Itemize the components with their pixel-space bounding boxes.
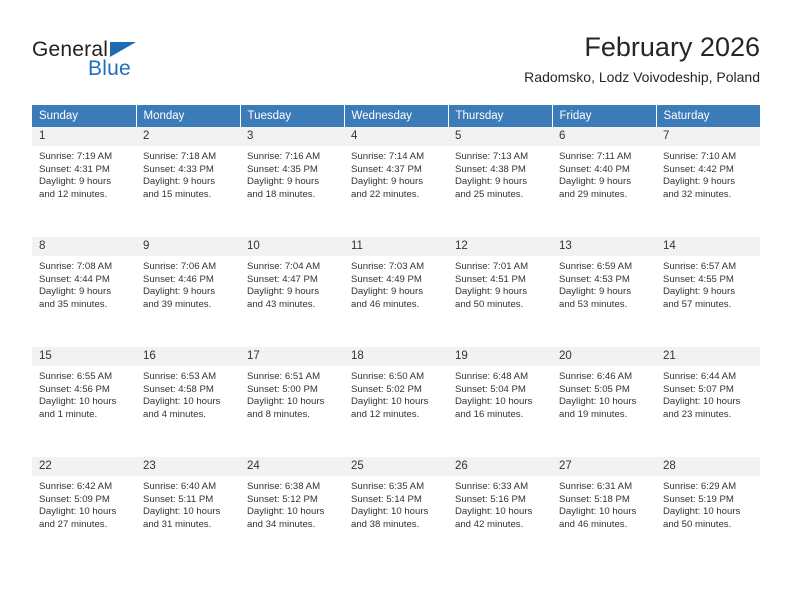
daylight-text-line1: Daylight: 9 hours — [143, 176, 234, 189]
day-details: Sunrise: 6:50 AMSunset: 5:02 PMDaylight:… — [344, 367, 448, 421]
daylight-text-line1: Daylight: 10 hours — [455, 396, 546, 409]
day-cell-inner: 20Sunrise: 6:46 AMSunset: 5:05 PMDayligh… — [552, 347, 656, 451]
daylight-text-line2: and 15 minutes. — [143, 189, 234, 202]
sunset-text: Sunset: 5:09 PM — [39, 494, 130, 507]
weekday-header-sunday: Sunday — [32, 105, 136, 127]
weekday-header-thursday: Thursday — [448, 105, 552, 127]
calendar-day-cell[interactable]: 1Sunrise: 7:19 AMSunset: 4:31 PMDaylight… — [32, 127, 136, 231]
calendar-day-cell[interactable]: 17Sunrise: 6:51 AMSunset: 5:00 PMDayligh… — [240, 347, 344, 451]
calendar-week-row: 8Sunrise: 7:08 AMSunset: 4:44 PMDaylight… — [32, 237, 760, 341]
calendar-page: General Blue February 2026 Radomsko, Lod… — [0, 0, 792, 612]
sunset-text: Sunset: 4:38 PM — [455, 164, 546, 177]
sunset-text: Sunset: 5:00 PM — [247, 384, 338, 397]
brand-name-blue: Blue — [88, 57, 131, 81]
day-number: 26 — [448, 457, 552, 477]
daylight-text-line1: Daylight: 9 hours — [559, 176, 650, 189]
day-number: 23 — [136, 457, 240, 477]
daylight-text-line1: Daylight: 10 hours — [663, 506, 754, 519]
day-cell-inner: 13Sunrise: 6:59 AMSunset: 4:53 PMDayligh… — [552, 237, 656, 341]
day-number: 27 — [552, 457, 656, 477]
daylight-text-line1: Daylight: 10 hours — [143, 396, 234, 409]
day-details: Sunrise: 6:48 AMSunset: 5:04 PMDaylight:… — [448, 367, 552, 421]
day-details: Sunrise: 6:51 AMSunset: 5:00 PMDaylight:… — [240, 367, 344, 421]
daylight-text-line1: Daylight: 10 hours — [455, 506, 546, 519]
daylight-text-line1: Daylight: 9 hours — [663, 286, 754, 299]
day-details: Sunrise: 6:42 AMSunset: 5:09 PMDaylight:… — [32, 477, 136, 531]
day-number: 13 — [552, 237, 656, 257]
sunset-text: Sunset: 4:33 PM — [143, 164, 234, 177]
daylight-text-line2: and 8 minutes. — [247, 409, 338, 422]
day-cell-inner: 8Sunrise: 7:08 AMSunset: 4:44 PMDaylight… — [32, 237, 136, 341]
sunrise-text: Sunrise: 6:46 AM — [559, 371, 650, 384]
calendar-day-cell[interactable]: 22Sunrise: 6:42 AMSunset: 5:09 PMDayligh… — [32, 457, 136, 561]
calendar-day-cell[interactable]: 18Sunrise: 6:50 AMSunset: 5:02 PMDayligh… — [344, 347, 448, 451]
day-number: 20 — [552, 347, 656, 367]
day-number: 14 — [656, 237, 760, 257]
sunset-text: Sunset: 4:42 PM — [663, 164, 754, 177]
day-cell-inner: 15Sunrise: 6:55 AMSunset: 4:56 PMDayligh… — [32, 347, 136, 451]
calendar-day-cell[interactable]: 28Sunrise: 6:29 AMSunset: 5:19 PMDayligh… — [656, 457, 760, 561]
daylight-text-line2: and 50 minutes. — [663, 519, 754, 532]
day-details: Sunrise: 7:01 AMSunset: 4:51 PMDaylight:… — [448, 257, 552, 311]
daylight-text-line1: Daylight: 9 hours — [247, 176, 338, 189]
day-cell-inner: 4Sunrise: 7:14 AMSunset: 4:37 PMDaylight… — [344, 127, 448, 231]
sunrise-text: Sunrise: 7:18 AM — [143, 151, 234, 164]
day-number: 3 — [240, 127, 344, 147]
day-details: Sunrise: 7:04 AMSunset: 4:47 PMDaylight:… — [240, 257, 344, 311]
calendar-day-cell[interactable]: 26Sunrise: 6:33 AMSunset: 5:16 PMDayligh… — [448, 457, 552, 561]
sunrise-text: Sunrise: 6:31 AM — [559, 481, 650, 494]
page-header: General Blue February 2026 Radomsko, Lod… — [32, 30, 760, 96]
sunrise-text: Sunrise: 7:03 AM — [351, 261, 442, 274]
day-details: Sunrise: 6:29 AMSunset: 5:19 PMDaylight:… — [656, 477, 760, 531]
daylight-text-line2: and 34 minutes. — [247, 519, 338, 532]
day-details: Sunrise: 6:53 AMSunset: 4:58 PMDaylight:… — [136, 367, 240, 421]
sunrise-text: Sunrise: 7:19 AM — [39, 151, 130, 164]
daylight-text-line1: Daylight: 9 hours — [351, 176, 442, 189]
day-number: 21 — [656, 347, 760, 367]
sunrise-text: Sunrise: 7:08 AM — [39, 261, 130, 274]
daylight-text-line1: Daylight: 9 hours — [39, 176, 130, 189]
day-cell-inner: 2Sunrise: 7:18 AMSunset: 4:33 PMDaylight… — [136, 127, 240, 231]
sunset-text: Sunset: 4:51 PM — [455, 274, 546, 287]
daylight-text-line2: and 25 minutes. — [455, 189, 546, 202]
calendar-day-cell[interactable]: 6Sunrise: 7:11 AMSunset: 4:40 PMDaylight… — [552, 127, 656, 231]
day-details: Sunrise: 6:57 AMSunset: 4:55 PMDaylight:… — [656, 257, 760, 311]
day-details: Sunrise: 7:16 AMSunset: 4:35 PMDaylight:… — [240, 147, 344, 201]
day-cell-inner: 11Sunrise: 7:03 AMSunset: 4:49 PMDayligh… — [344, 237, 448, 341]
day-cell-inner: 12Sunrise: 7:01 AMSunset: 4:51 PMDayligh… — [448, 237, 552, 341]
day-number: 12 — [448, 237, 552, 257]
day-number: 8 — [32, 237, 136, 257]
day-details: Sunrise: 7:19 AMSunset: 4:31 PMDaylight:… — [32, 147, 136, 201]
daylight-text-line2: and 31 minutes. — [143, 519, 234, 532]
day-cell-inner: 5Sunrise: 7:13 AMSunset: 4:38 PMDaylight… — [448, 127, 552, 231]
sunrise-text: Sunrise: 6:59 AM — [559, 261, 650, 274]
daylight-text-line2: and 50 minutes. — [455, 299, 546, 312]
sunrise-text: Sunrise: 6:48 AM — [455, 371, 546, 384]
sunset-text: Sunset: 5:12 PM — [247, 494, 338, 507]
sunset-text: Sunset: 5:18 PM — [559, 494, 650, 507]
weekday-header-saturday: Saturday — [656, 105, 760, 127]
sunrise-text: Sunrise: 6:42 AM — [39, 481, 130, 494]
day-cell-inner: 22Sunrise: 6:42 AMSunset: 5:09 PMDayligh… — [32, 457, 136, 561]
daylight-text-line2: and 16 minutes. — [455, 409, 546, 422]
daylight-text-line2: and 42 minutes. — [455, 519, 546, 532]
day-details: Sunrise: 7:11 AMSunset: 4:40 PMDaylight:… — [552, 147, 656, 201]
sunset-text: Sunset: 4:58 PM — [143, 384, 234, 397]
calendar-day-cell[interactable]: 15Sunrise: 6:55 AMSunset: 4:56 PMDayligh… — [32, 347, 136, 451]
day-number: 7 — [656, 127, 760, 147]
day-details: Sunrise: 7:03 AMSunset: 4:49 PMDaylight:… — [344, 257, 448, 311]
day-details: Sunrise: 6:40 AMSunset: 5:11 PMDaylight:… — [136, 477, 240, 531]
daylight-text-line2: and 46 minutes. — [559, 519, 650, 532]
calendar-day-cell[interactable]: 14Sunrise: 6:57 AMSunset: 4:55 PMDayligh… — [656, 237, 760, 341]
calendar-week-row: 22Sunrise: 6:42 AMSunset: 5:09 PMDayligh… — [32, 457, 760, 561]
calendar-day-cell[interactable]: 13Sunrise: 6:59 AMSunset: 4:53 PMDayligh… — [552, 237, 656, 341]
sunset-text: Sunset: 4:56 PM — [39, 384, 130, 397]
sunrise-text: Sunrise: 7:13 AM — [455, 151, 546, 164]
sunset-text: Sunset: 4:46 PM — [143, 274, 234, 287]
day-number: 22 — [32, 457, 136, 477]
daylight-text-line1: Daylight: 9 hours — [455, 176, 546, 189]
sunrise-text: Sunrise: 7:01 AM — [455, 261, 546, 274]
day-number: 15 — [32, 347, 136, 367]
day-cell-inner: 10Sunrise: 7:04 AMSunset: 4:47 PMDayligh… — [240, 237, 344, 341]
daylight-text-line2: and 4 minutes. — [143, 409, 234, 422]
triangle-icon — [110, 42, 136, 57]
sunset-text: Sunset: 5:07 PM — [663, 384, 754, 397]
sunrise-text: Sunrise: 7:06 AM — [143, 261, 234, 274]
sunrise-text: Sunrise: 6:53 AM — [143, 371, 234, 384]
day-number: 16 — [136, 347, 240, 367]
day-cell-inner: 19Sunrise: 6:48 AMSunset: 5:04 PMDayligh… — [448, 347, 552, 451]
sunrise-text: Sunrise: 6:51 AM — [247, 371, 338, 384]
day-details: Sunrise: 7:18 AMSunset: 4:33 PMDaylight:… — [136, 147, 240, 201]
sunset-text: Sunset: 5:04 PM — [455, 384, 546, 397]
calendar-day-cell[interactable]: 3Sunrise: 7:16 AMSunset: 4:35 PMDaylight… — [240, 127, 344, 231]
calendar-table: Sunday Monday Tuesday Wednesday Thursday… — [32, 105, 760, 561]
daylight-text-line2: and 32 minutes. — [663, 189, 754, 202]
calendar-day-cell[interactable]: 27Sunrise: 6:31 AMSunset: 5:18 PMDayligh… — [552, 457, 656, 561]
sunset-text: Sunset: 4:44 PM — [39, 274, 130, 287]
day-cell-inner: 14Sunrise: 6:57 AMSunset: 4:55 PMDayligh… — [656, 237, 760, 341]
daylight-text-line1: Daylight: 9 hours — [559, 286, 650, 299]
sunrise-text: Sunrise: 6:29 AM — [663, 481, 754, 494]
calendar-day-cell[interactable]: 2Sunrise: 7:18 AMSunset: 4:33 PMDaylight… — [136, 127, 240, 231]
sunrise-text: Sunrise: 6:50 AM — [351, 371, 442, 384]
day-number: 5 — [448, 127, 552, 147]
sunrise-text: Sunrise: 6:33 AM — [455, 481, 546, 494]
sunset-text: Sunset: 4:55 PM — [663, 274, 754, 287]
day-cell-inner: 28Sunrise: 6:29 AMSunset: 5:19 PMDayligh… — [656, 457, 760, 561]
day-details: Sunrise: 6:44 AMSunset: 5:07 PMDaylight:… — [656, 367, 760, 421]
day-cell-inner: 1Sunrise: 7:19 AMSunset: 4:31 PMDaylight… — [32, 127, 136, 231]
calendar-day-cell[interactable]: 25Sunrise: 6:35 AMSunset: 5:14 PMDayligh… — [344, 457, 448, 561]
weekday-header-monday: Monday — [136, 105, 240, 127]
day-number: 17 — [240, 347, 344, 367]
day-cell-inner: 25Sunrise: 6:35 AMSunset: 5:14 PMDayligh… — [344, 457, 448, 561]
calendar-day-cell[interactable]: 24Sunrise: 6:38 AMSunset: 5:12 PMDayligh… — [240, 457, 344, 561]
daylight-text-line1: Daylight: 10 hours — [351, 506, 442, 519]
brand-logo[interactable]: General Blue — [32, 38, 232, 88]
day-details: Sunrise: 6:33 AMSunset: 5:16 PMDaylight:… — [448, 477, 552, 531]
daylight-text-line1: Daylight: 10 hours — [247, 396, 338, 409]
sunset-text: Sunset: 5:11 PM — [143, 494, 234, 507]
sunset-text: Sunset: 4:47 PM — [247, 274, 338, 287]
sunrise-text: Sunrise: 6:44 AM — [663, 371, 754, 384]
day-number: 10 — [240, 237, 344, 257]
day-details: Sunrise: 7:14 AMSunset: 4:37 PMDaylight:… — [344, 147, 448, 201]
daylight-text-line1: Daylight: 9 hours — [143, 286, 234, 299]
calendar-day-cell[interactable]: 7Sunrise: 7:10 AMSunset: 4:42 PMDaylight… — [656, 127, 760, 231]
day-details: Sunrise: 6:59 AMSunset: 4:53 PMDaylight:… — [552, 257, 656, 311]
calendar-body: 1Sunrise: 7:19 AMSunset: 4:31 PMDaylight… — [32, 127, 760, 561]
day-cell-inner: 16Sunrise: 6:53 AMSunset: 4:58 PMDayligh… — [136, 347, 240, 451]
weekday-header-tuesday: Tuesday — [240, 105, 344, 127]
daylight-text-line2: and 57 minutes. — [663, 299, 754, 312]
sunrise-text: Sunrise: 6:55 AM — [39, 371, 130, 384]
daylight-text-line2: and 38 minutes. — [351, 519, 442, 532]
weekday-header-friday: Friday — [552, 105, 656, 127]
daylight-text-line1: Daylight: 9 hours — [455, 286, 546, 299]
sunrise-text: Sunrise: 7:04 AM — [247, 261, 338, 274]
daylight-text-line1: Daylight: 9 hours — [663, 176, 754, 189]
daylight-text-line1: Daylight: 10 hours — [351, 396, 442, 409]
sunrise-text: Sunrise: 6:38 AM — [247, 481, 338, 494]
calendar-day-cell[interactable]: 11Sunrise: 7:03 AMSunset: 4:49 PMDayligh… — [344, 237, 448, 341]
day-number: 18 — [344, 347, 448, 367]
daylight-text-line1: Daylight: 9 hours — [247, 286, 338, 299]
day-details: Sunrise: 6:35 AMSunset: 5:14 PMDaylight:… — [344, 477, 448, 531]
day-details: Sunrise: 7:10 AMSunset: 4:42 PMDaylight:… — [656, 147, 760, 201]
calendar-header-row: Sunday Monday Tuesday Wednesday Thursday… — [32, 105, 760, 127]
daylight-text-line1: Daylight: 10 hours — [559, 396, 650, 409]
sunset-text: Sunset: 4:53 PM — [559, 274, 650, 287]
day-cell-inner: 9Sunrise: 7:06 AMSunset: 4:46 PMDaylight… — [136, 237, 240, 341]
day-cell-inner: 18Sunrise: 6:50 AMSunset: 5:02 PMDayligh… — [344, 347, 448, 451]
sunset-text: Sunset: 5:16 PM — [455, 494, 546, 507]
calendar-day-cell[interactable]: 23Sunrise: 6:40 AMSunset: 5:11 PMDayligh… — [136, 457, 240, 561]
day-details: Sunrise: 7:06 AMSunset: 4:46 PMDaylight:… — [136, 257, 240, 311]
daylight-text-line2: and 29 minutes. — [559, 189, 650, 202]
day-number: 2 — [136, 127, 240, 147]
sunset-text: Sunset: 4:35 PM — [247, 164, 338, 177]
daylight-text-line2: and 23 minutes. — [663, 409, 754, 422]
day-cell-inner: 23Sunrise: 6:40 AMSunset: 5:11 PMDayligh… — [136, 457, 240, 561]
sunrise-text: Sunrise: 6:40 AM — [143, 481, 234, 494]
sunset-text: Sunset: 5:05 PM — [559, 384, 650, 397]
day-details: Sunrise: 6:31 AMSunset: 5:18 PMDaylight:… — [552, 477, 656, 531]
day-number: 28 — [656, 457, 760, 477]
sunset-text: Sunset: 5:19 PM — [663, 494, 754, 507]
calendar-day-cell[interactable]: 19Sunrise: 6:48 AMSunset: 5:04 PMDayligh… — [448, 347, 552, 451]
day-details: Sunrise: 7:13 AMSunset: 4:38 PMDaylight:… — [448, 147, 552, 201]
daylight-text-line1: Daylight: 10 hours — [39, 506, 130, 519]
daylight-text-line1: Daylight: 9 hours — [39, 286, 130, 299]
day-cell-inner: 17Sunrise: 6:51 AMSunset: 5:00 PMDayligh… — [240, 347, 344, 451]
day-cell-inner: 27Sunrise: 6:31 AMSunset: 5:18 PMDayligh… — [552, 457, 656, 561]
calendar-day-cell[interactable]: 9Sunrise: 7:06 AMSunset: 4:46 PMDaylight… — [136, 237, 240, 341]
daylight-text-line2: and 12 minutes. — [39, 189, 130, 202]
day-number: 9 — [136, 237, 240, 257]
sunset-text: Sunset: 4:31 PM — [39, 164, 130, 177]
daylight-text-line2: and 1 minute. — [39, 409, 130, 422]
calendar-day-cell[interactable]: 12Sunrise: 7:01 AMSunset: 4:51 PMDayligh… — [448, 237, 552, 341]
sunrise-text: Sunrise: 7:10 AM — [663, 151, 754, 164]
daylight-text-line1: Daylight: 10 hours — [143, 506, 234, 519]
daylight-text-line1: Daylight: 10 hours — [559, 506, 650, 519]
day-cell-inner: 21Sunrise: 6:44 AMSunset: 5:07 PMDayligh… — [656, 347, 760, 451]
sunset-text: Sunset: 5:14 PM — [351, 494, 442, 507]
daylight-text-line2: and 18 minutes. — [247, 189, 338, 202]
daylight-text-line1: Daylight: 10 hours — [663, 396, 754, 409]
day-details: Sunrise: 6:46 AMSunset: 5:05 PMDaylight:… — [552, 367, 656, 421]
daylight-text-line2: and 53 minutes. — [559, 299, 650, 312]
sunset-text: Sunset: 5:02 PM — [351, 384, 442, 397]
calendar-day-cell[interactable]: 8Sunrise: 7:08 AMSunset: 4:44 PMDaylight… — [32, 237, 136, 341]
day-details: Sunrise: 6:38 AMSunset: 5:12 PMDaylight:… — [240, 477, 344, 531]
day-number: 19 — [448, 347, 552, 367]
daylight-text-line2: and 35 minutes. — [39, 299, 130, 312]
daylight-text-line2: and 43 minutes. — [247, 299, 338, 312]
calendar-day-cell[interactable]: 21Sunrise: 6:44 AMSunset: 5:07 PMDayligh… — [656, 347, 760, 451]
day-cell-inner: 26Sunrise: 6:33 AMSunset: 5:16 PMDayligh… — [448, 457, 552, 561]
day-number: 4 — [344, 127, 448, 147]
sunset-text: Sunset: 4:49 PM — [351, 274, 442, 287]
page-subtitle: Radomsko, Lodz Voivodeship, Poland — [524, 66, 760, 88]
sunrise-text: Sunrise: 7:16 AM — [247, 151, 338, 164]
daylight-text-line2: and 22 minutes. — [351, 189, 442, 202]
sunset-text: Sunset: 4:37 PM — [351, 164, 442, 177]
day-cell-inner: 3Sunrise: 7:16 AMSunset: 4:35 PMDaylight… — [240, 127, 344, 231]
daylight-text-line2: and 27 minutes. — [39, 519, 130, 532]
day-number: 11 — [344, 237, 448, 257]
sunrise-text: Sunrise: 7:11 AM — [559, 151, 650, 164]
title-block: February 2026 Radomsko, Lodz Voivodeship… — [524, 30, 760, 88]
calendar-day-cell[interactable]: 20Sunrise: 6:46 AMSunset: 5:05 PMDayligh… — [552, 347, 656, 451]
calendar-week-row: 15Sunrise: 6:55 AMSunset: 4:56 PMDayligh… — [32, 347, 760, 451]
calendar-day-cell[interactable]: 10Sunrise: 7:04 AMSunset: 4:47 PMDayligh… — [240, 237, 344, 341]
day-cell-inner: 7Sunrise: 7:10 AMSunset: 4:42 PMDaylight… — [656, 127, 760, 231]
calendar-week-row: 1Sunrise: 7:19 AMSunset: 4:31 PMDaylight… — [32, 127, 760, 231]
daylight-text-line2: and 12 minutes. — [351, 409, 442, 422]
daylight-text-line2: and 19 minutes. — [559, 409, 650, 422]
calendar-day-cell[interactable]: 16Sunrise: 6:53 AMSunset: 4:58 PMDayligh… — [136, 347, 240, 451]
sunrise-text: Sunrise: 6:57 AM — [663, 261, 754, 274]
daylight-text-line1: Daylight: 9 hours — [351, 286, 442, 299]
day-number: 25 — [344, 457, 448, 477]
day-number: 24 — [240, 457, 344, 477]
day-cell-inner: 6Sunrise: 7:11 AMSunset: 4:40 PMDaylight… — [552, 127, 656, 231]
sunrise-text: Sunrise: 7:14 AM — [351, 151, 442, 164]
daylight-text-line2: and 46 minutes. — [351, 299, 442, 312]
sunset-text: Sunset: 4:40 PM — [559, 164, 650, 177]
daylight-text-line2: and 39 minutes. — [143, 299, 234, 312]
daylight-text-line1: Daylight: 10 hours — [247, 506, 338, 519]
day-details: Sunrise: 6:55 AMSunset: 4:56 PMDaylight:… — [32, 367, 136, 421]
day-details: Sunrise: 7:08 AMSunset: 4:44 PMDaylight:… — [32, 257, 136, 311]
day-number: 1 — [32, 127, 136, 147]
day-cell-inner: 24Sunrise: 6:38 AMSunset: 5:12 PMDayligh… — [240, 457, 344, 561]
page-title: February 2026 — [524, 30, 760, 64]
sunrise-text: Sunrise: 6:35 AM — [351, 481, 442, 494]
weekday-header-wednesday: Wednesday — [344, 105, 448, 127]
calendar-day-cell[interactable]: 5Sunrise: 7:13 AMSunset: 4:38 PMDaylight… — [448, 127, 552, 231]
day-number: 6 — [552, 127, 656, 147]
calendar-day-cell[interactable]: 4Sunrise: 7:14 AMSunset: 4:37 PMDaylight… — [344, 127, 448, 231]
daylight-text-line1: Daylight: 10 hours — [39, 396, 130, 409]
